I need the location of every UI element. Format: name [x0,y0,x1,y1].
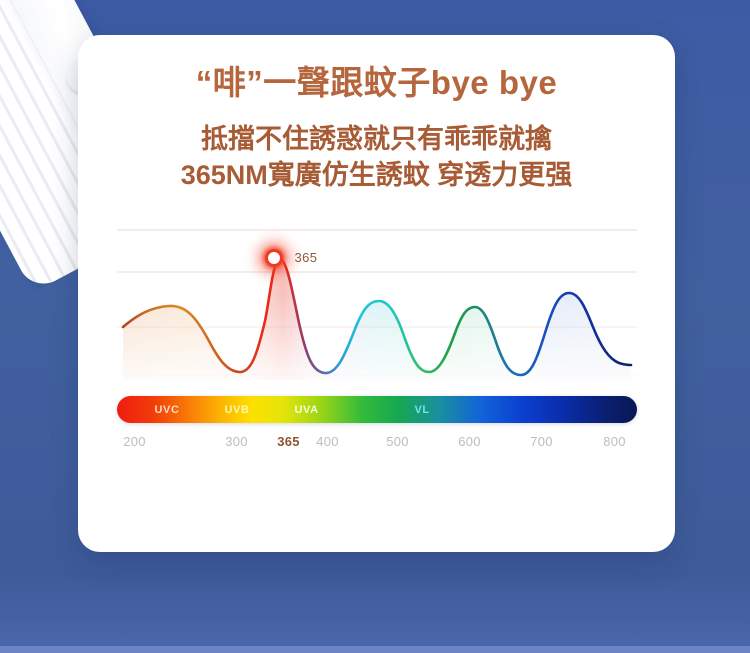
axis-tick-800: 800 [603,434,626,449]
subtitle-line-2: 365NM寬廣仿生誘蚊 穿透力更强 [78,157,675,193]
page-title: “啡”一聲跟蚊子bye bye [78,63,675,103]
subtitle-line-1: 抵擋不住誘惑就只有乖乖就擒 [78,121,675,157]
peak-marker-365 [265,249,283,267]
chart-fill-fade [117,295,637,380]
page-root: ✦ ● ○ “啡”一聲跟蚊子bye bye 抵擋不住誘惑就只有乖乖就擒 365N… [0,0,750,653]
subtitle-block: 抵擋不住誘惑就只有乖乖就擒 365NM寬廣仿生誘蚊 穿透力更强 [78,121,675,194]
axis-tick-500: 500 [386,434,409,449]
spectrum-label-uvc: UVC [155,404,180,416]
spectrum-label-vl: VL [415,404,430,416]
content-card: “啡”一聲跟蚊子bye bye 抵擋不住誘惑就只有乖乖就擒 365NM寬廣仿生誘… [78,35,675,552]
axis-tick-400: 400 [316,434,339,449]
bottom-accent-strip [0,646,750,653]
wavelength-axis: 200 300 365 400 500 600 700 800 [117,434,637,460]
spectrum-bar: UVC UVB UVA VL [117,396,637,423]
peak-label-365: 365 [295,250,318,265]
heading-block: “啡”一聲跟蚊子bye bye 抵擋不住誘惑就只有乖乖就擒 365NM寬廣仿生誘… [78,35,675,193]
spectral-chart-svg [117,215,637,380]
spectrum-label-uvb: UVB [225,404,250,416]
axis-tick-365: 365 [277,434,300,449]
spectrum-label-uva: UVA [295,404,319,416]
axis-tick-700: 700 [530,434,553,449]
spectral-chart: 365 [117,215,637,380]
axis-tick-600: 600 [458,434,481,449]
axis-tick-200: 200 [123,434,146,449]
spectrum-bar-wrap: UVC UVB UVA VL [117,396,637,423]
axis-tick-300: 300 [225,434,248,449]
